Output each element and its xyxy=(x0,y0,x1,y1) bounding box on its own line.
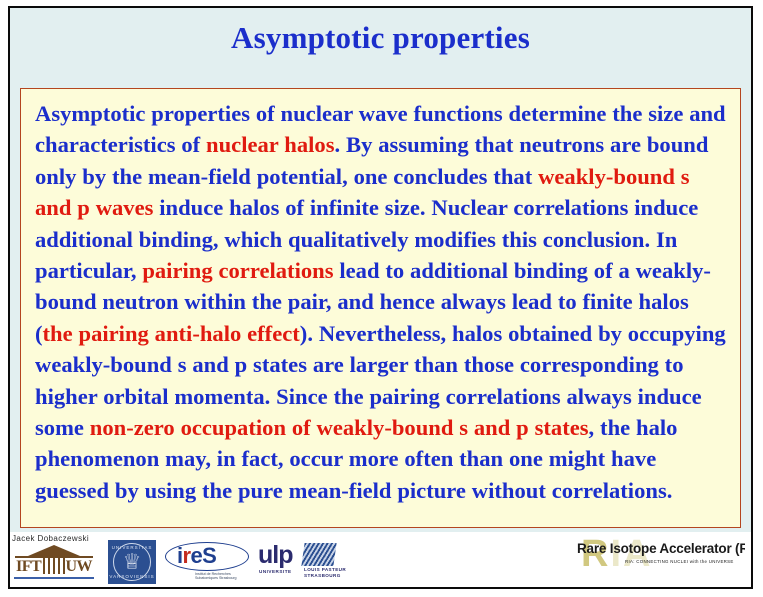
page-title: Asymptotic properties xyxy=(231,20,530,56)
title-bar: Asymptotic properties xyxy=(10,20,751,56)
author-name: Jacek Dobaczewski xyxy=(12,534,98,544)
ulp-subtitle-right: LOUIS PASTEUR STRASBOURG xyxy=(304,567,350,579)
ires-logo: ireS Institut de Recherches Subatomiques… xyxy=(165,541,251,585)
logo-baseline xyxy=(14,577,94,579)
ires-wordmark: ireS xyxy=(177,542,216,569)
ria-title: Rare Isotope Accelerator (RIA) xyxy=(577,541,745,557)
ulp-logo: ulp UNIVERSITE LOUIS PASTEUR STRASBOURG xyxy=(258,541,348,585)
eagle-icon: ♕ xyxy=(123,552,142,573)
author-block: Jacek Dobaczewski IFT UW xyxy=(12,534,98,583)
ulp-wordmark: ulp xyxy=(258,542,293,569)
slide-frame: Asymptotic properties Asymptotic propert… xyxy=(8,6,753,589)
body-highlight-5: pairing correlations xyxy=(142,258,333,283)
body-highlight-7: the pairing anti-halo effect xyxy=(43,321,300,346)
footer-bar: Jacek Dobaczewski IFT UW UNIVERSITAS ♕ V… xyxy=(10,532,751,587)
body-highlight-9: non-zero occupation of weakly-bound s an… xyxy=(90,415,589,440)
body-highlight-1: nuclear halos xyxy=(206,132,334,157)
ift-uw-logo: IFT UW xyxy=(12,545,96,583)
ria-tagline: RIA: CONNECTING NUCLEI with the UNIVERSE xyxy=(625,559,734,564)
ires-letters-es: eS xyxy=(190,543,216,568)
ulp-flag-shape xyxy=(301,543,336,566)
warsaw-university-seal: UNIVERSITAS ♕ VARSOVIENSIS xyxy=(108,540,156,584)
ulp-subtitle-left: UNIVERSITE xyxy=(259,569,292,574)
uw-text: UW xyxy=(65,558,92,576)
ria-logo: RIA Rare Isotope Accelerator (RIA) RIA: … xyxy=(575,538,745,578)
seal-bottom-text: VARSOVIENSIS xyxy=(108,574,156,579)
body-paragraph: Asymptotic properties of nuclear wave fu… xyxy=(35,98,727,506)
slide-canvas: Asymptotic properties Asymptotic propert… xyxy=(10,8,751,536)
content-text-box: Asymptotic properties of nuclear wave fu… xyxy=(20,88,741,528)
pediment-shape xyxy=(28,545,80,556)
columns-shape xyxy=(43,558,65,574)
ires-subtitle: Institut de Recherches Subatomiques Stra… xyxy=(195,572,253,581)
ift-text: IFT xyxy=(16,558,41,576)
